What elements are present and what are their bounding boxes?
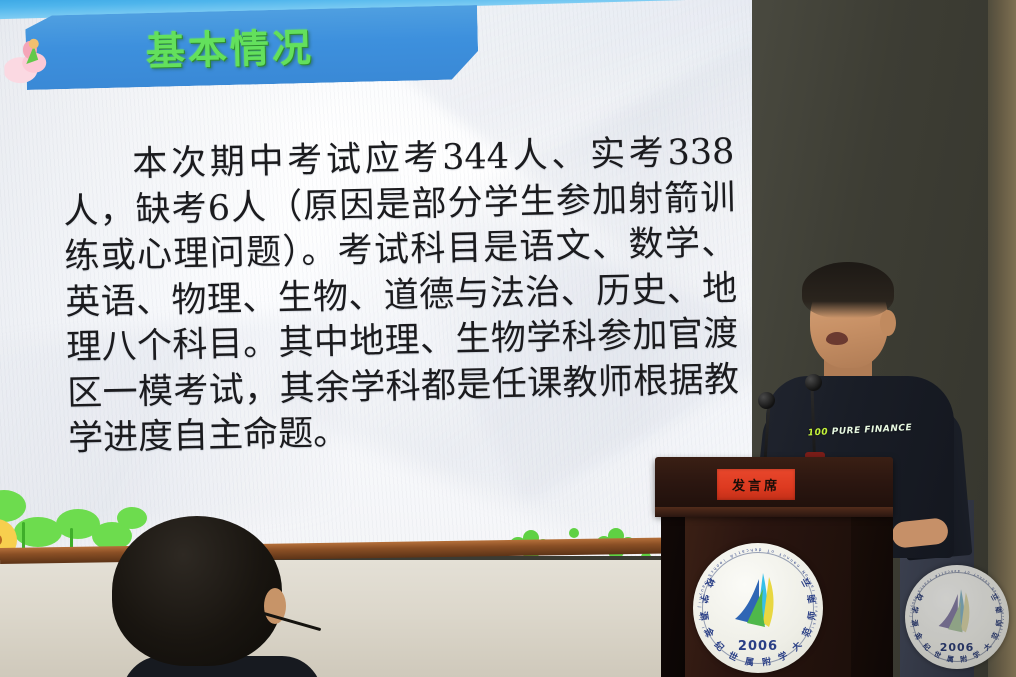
audience-member <box>112 516 302 677</box>
podium-left-face <box>661 515 685 677</box>
emblem-year: 2006 <box>693 639 823 654</box>
projection-screen: 基本情况 本次期中考试应考344人、实考338人，缺考6人（原因是部分学生参加射… <box>0 0 752 556</box>
speaker-mouth <box>826 332 848 345</box>
slide-title: 基本情况 <box>25 14 434 80</box>
speaker-hair <box>802 262 894 318</box>
microphone-head-left <box>758 392 775 409</box>
emblem-sail-icon <box>723 569 793 639</box>
slide-title-banner: 基本情况 <box>25 5 479 90</box>
speaker-podium: 发言席 云南师范大学附属世纪金源学校 Shi Ji Jinyuan School… <box>655 457 893 677</box>
audience-head <box>112 516 282 666</box>
microphone-head-right <box>805 374 822 391</box>
podium-right-face <box>851 515 893 677</box>
school-emblem: 云南师范大学附属世纪金源学校 Shi Ji Jinyuan School Att… <box>693 543 823 673</box>
garment-logo-neon: 100 <box>808 427 829 438</box>
presentation-photo: 基本情况 本次期中考试应考344人、实考338人，缺考6人（原因是部分学生参加射… <box>0 0 1016 677</box>
school-emblem-secondary: 云南师范大学附属世纪金源学校 Shi Ji Jinyuan School Att… <box>905 565 1009 669</box>
podium-sign-label: 发言席 <box>732 475 780 494</box>
podium-top-lip <box>655 507 893 517</box>
podium-sign: 发言席 <box>717 469 795 500</box>
speaker-ear <box>880 310 896 336</box>
emblem-year: 2006 <box>905 641 1009 654</box>
slide-body-text: 本次期中考试应考344人、实考338人，缺考6人（原因是部分学生参加射箭训练或心… <box>62 130 741 463</box>
emblem-sail-icon <box>929 586 985 642</box>
